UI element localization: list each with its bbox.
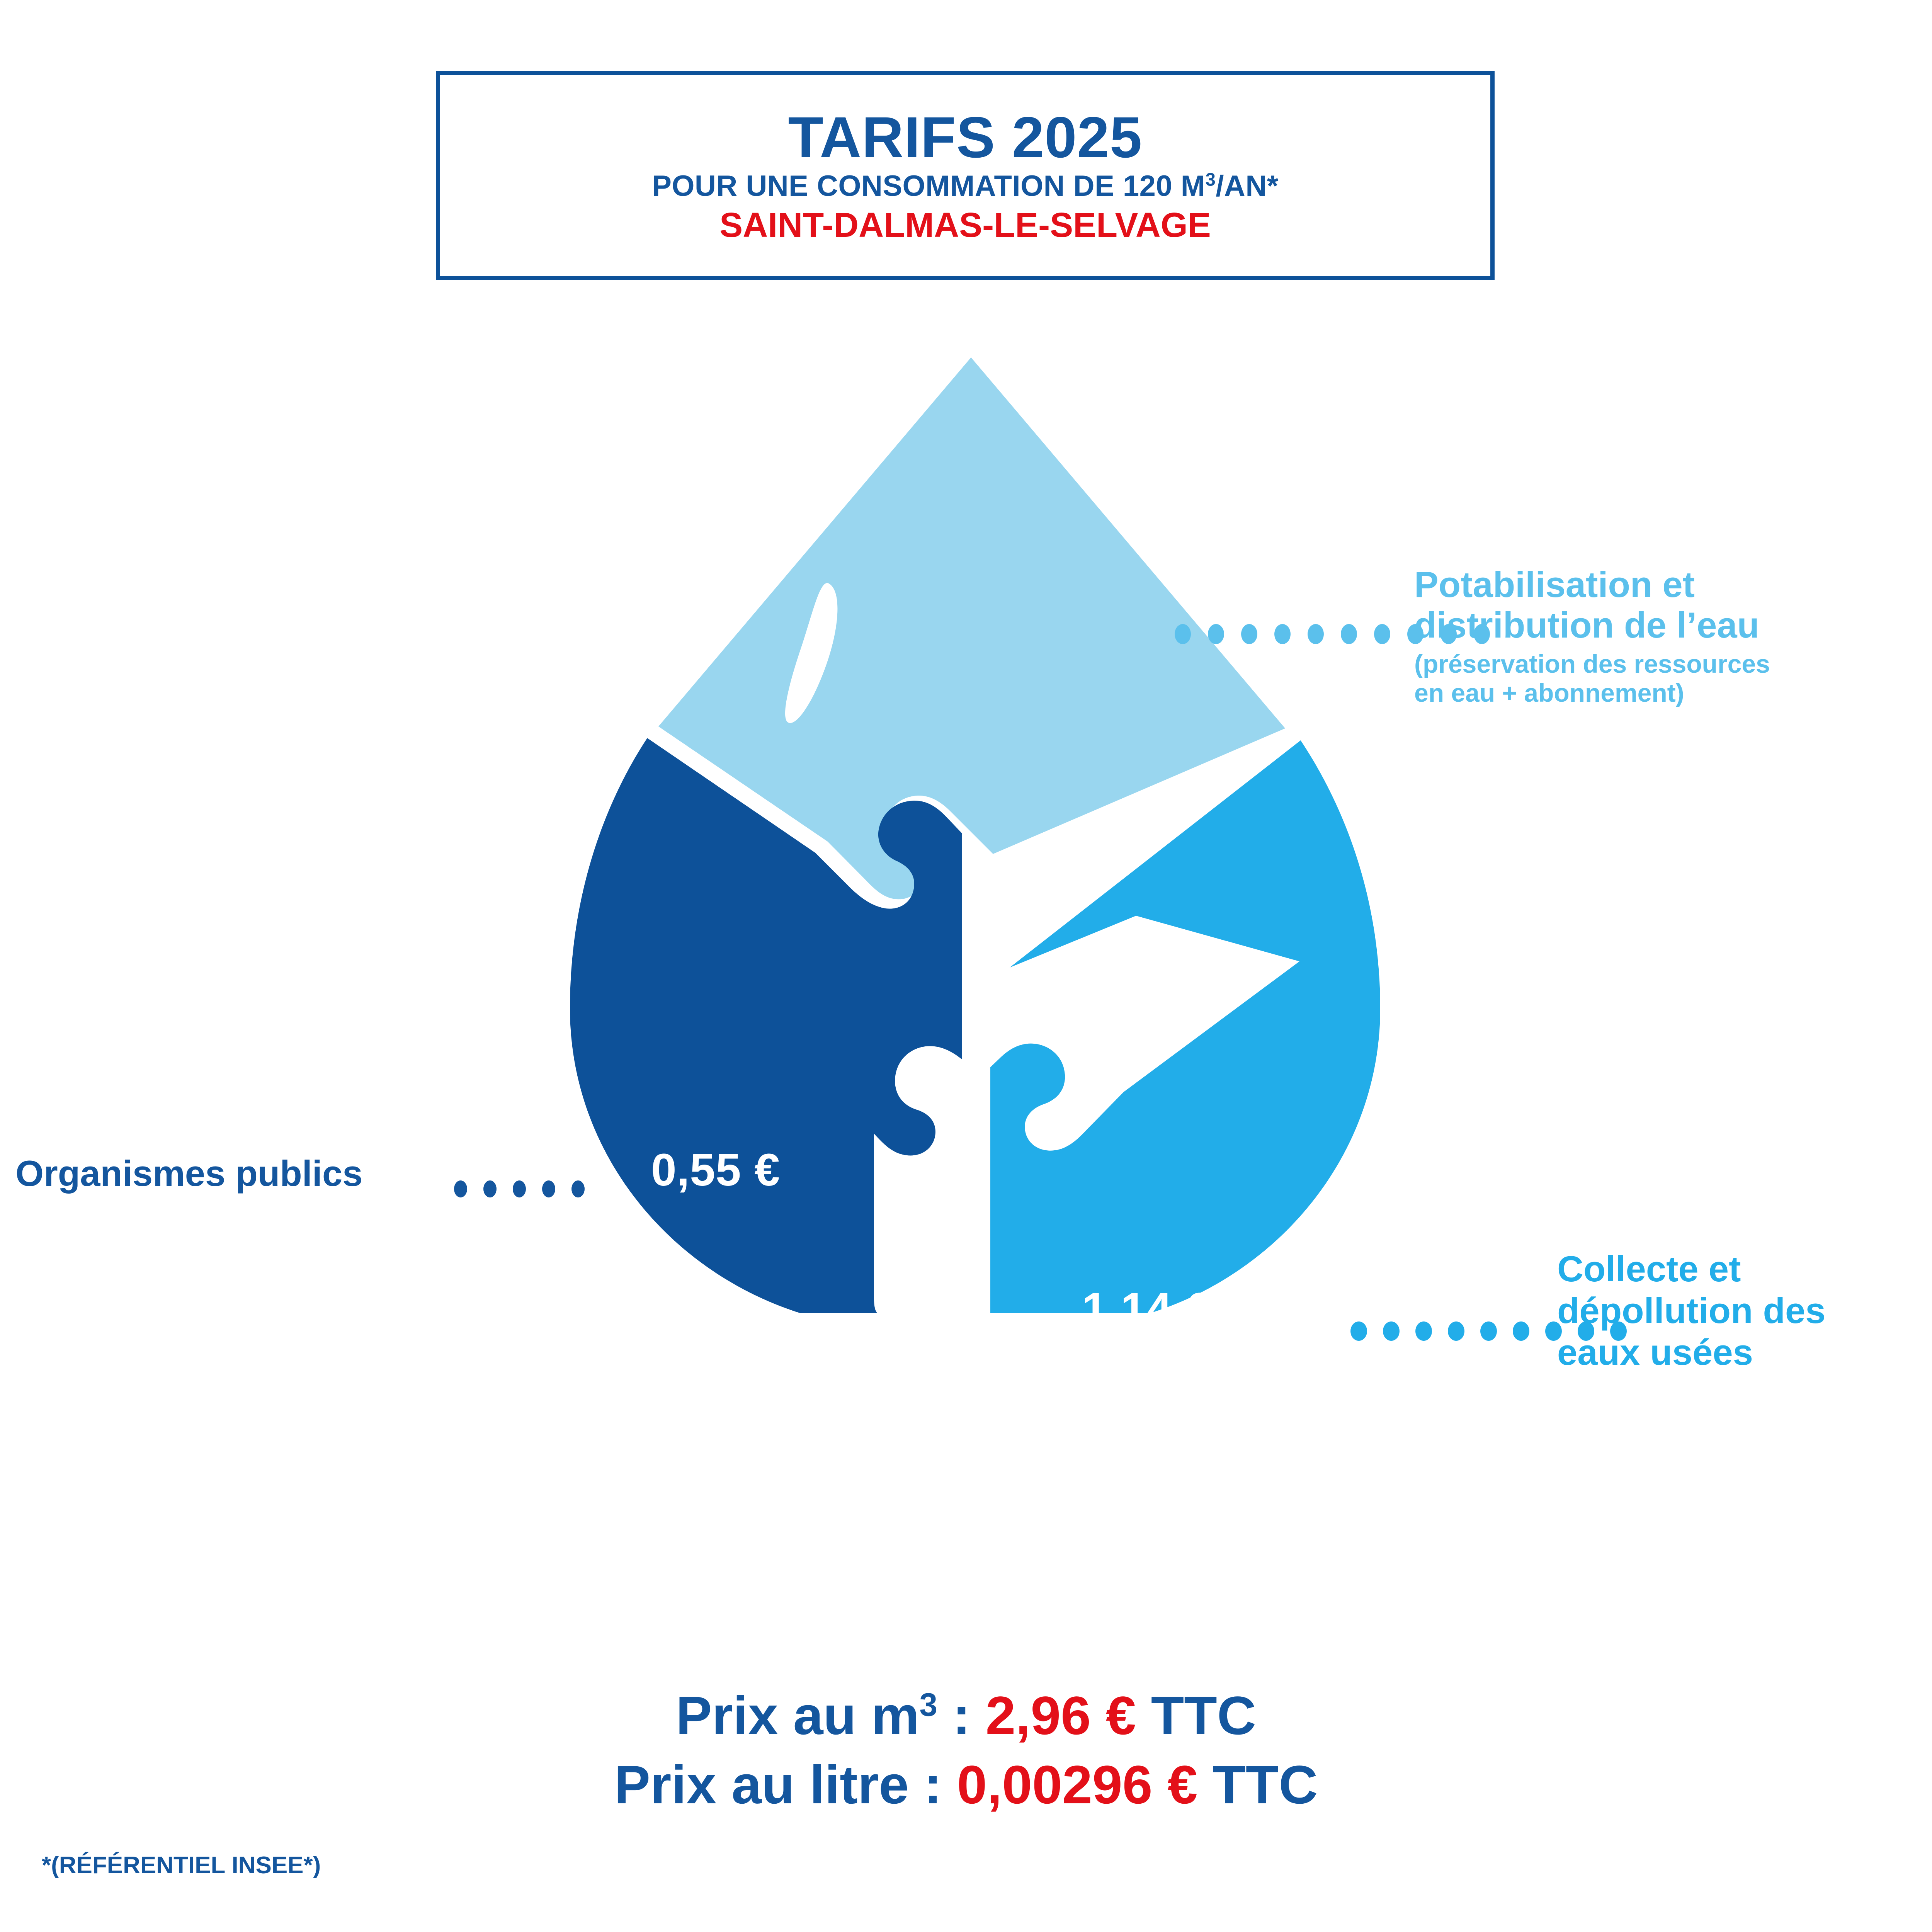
dot xyxy=(1175,624,1191,644)
dot xyxy=(571,1180,585,1197)
price-litre-value: 0,00296 € xyxy=(957,1754,1198,1815)
dot xyxy=(1448,1321,1464,1341)
legend-potabilisation: Potabilisation et distribution de l’eau … xyxy=(1414,564,1917,708)
price-per-litre: Prix au litre : 0,00296 € TTC xyxy=(0,1750,1932,1819)
water-droplet-chart xyxy=(541,336,1430,1611)
dot xyxy=(1208,624,1224,644)
value-label-potabilisation: 1,27 € xyxy=(350,566,479,619)
dot xyxy=(1350,1321,1367,1341)
legend-collecte-depollution: Collecte et dépollution des eaux usées xyxy=(1557,1248,1920,1373)
city-name: SAINT-DALMAS-LE-SELVAGE xyxy=(719,208,1211,243)
value-label-organismes-publics: 0,55 € xyxy=(651,1144,780,1196)
subtitle-superscript: 3 xyxy=(1206,169,1216,190)
price-litre-prefix: Prix au litre : xyxy=(614,1754,957,1815)
segment-organismes-publics[interactable] xyxy=(570,738,962,1313)
price-m3-prefix: Prix au m xyxy=(676,1685,919,1746)
value-label-collecte-depollution: 1,14 € xyxy=(1082,1283,1211,1335)
legend-collecte-line3: eaux usées xyxy=(1557,1332,1920,1373)
connector-dots-organismes xyxy=(454,1180,585,1197)
dot xyxy=(483,1180,497,1197)
price-m3-superscript: 3 xyxy=(919,1686,937,1723)
dot xyxy=(1415,1321,1432,1341)
legend-potabilisation-line1: Potabilisation et xyxy=(1414,564,1917,605)
dot xyxy=(513,1180,526,1197)
subtitle-text-after: /AN* xyxy=(1216,170,1278,202)
dot xyxy=(1374,624,1390,644)
dot xyxy=(1513,1321,1529,1341)
price-m3-value: 2,96 € xyxy=(986,1685,1136,1746)
price-summary: Prix au m3 : 2,96 € TTC Prix au litre : … xyxy=(0,1681,1932,1819)
droplet-svg xyxy=(541,336,1430,1611)
dot xyxy=(1341,624,1357,644)
price-m3-separator: : xyxy=(937,1685,985,1746)
dot xyxy=(454,1180,467,1197)
dot xyxy=(1241,624,1257,644)
price-m3-suffix: TTC xyxy=(1136,1685,1256,1746)
page-title: TARIFS 2025 xyxy=(788,108,1143,166)
price-litre-suffix: TTC xyxy=(1197,1754,1318,1815)
footnote: *(RÉFÉRENTIEL INSEE*) xyxy=(42,1852,321,1879)
dot xyxy=(1274,624,1291,644)
dot xyxy=(542,1180,555,1197)
dot xyxy=(1383,1321,1400,1341)
title-box: TARIFS 2025 POUR UNE CONSOMMATION DE 120… xyxy=(436,71,1495,280)
legend-potabilisation-line2: distribution de l’eau xyxy=(1414,605,1917,645)
legend-collecte-line2: dépollution des xyxy=(1557,1290,1920,1332)
dot xyxy=(1480,1321,1497,1341)
consumption-subtitle: POUR UNE CONSOMMATION DE 120 M3/AN* xyxy=(652,171,1279,202)
dot xyxy=(1308,624,1324,644)
subtitle-text-before: POUR UNE CONSOMMATION DE 120 M xyxy=(652,170,1205,202)
price-per-m3: Prix au m3 : 2,96 € TTC xyxy=(0,1681,1932,1750)
legend-potabilisation-sub2: en eau + abonnement) xyxy=(1414,679,1917,708)
legend-potabilisation-sub1: (préservation des ressources xyxy=(1414,650,1917,679)
legend-collecte-line1: Collecte et xyxy=(1557,1248,1920,1290)
legend-organismes-publics: Organismes publics xyxy=(15,1153,437,1193)
